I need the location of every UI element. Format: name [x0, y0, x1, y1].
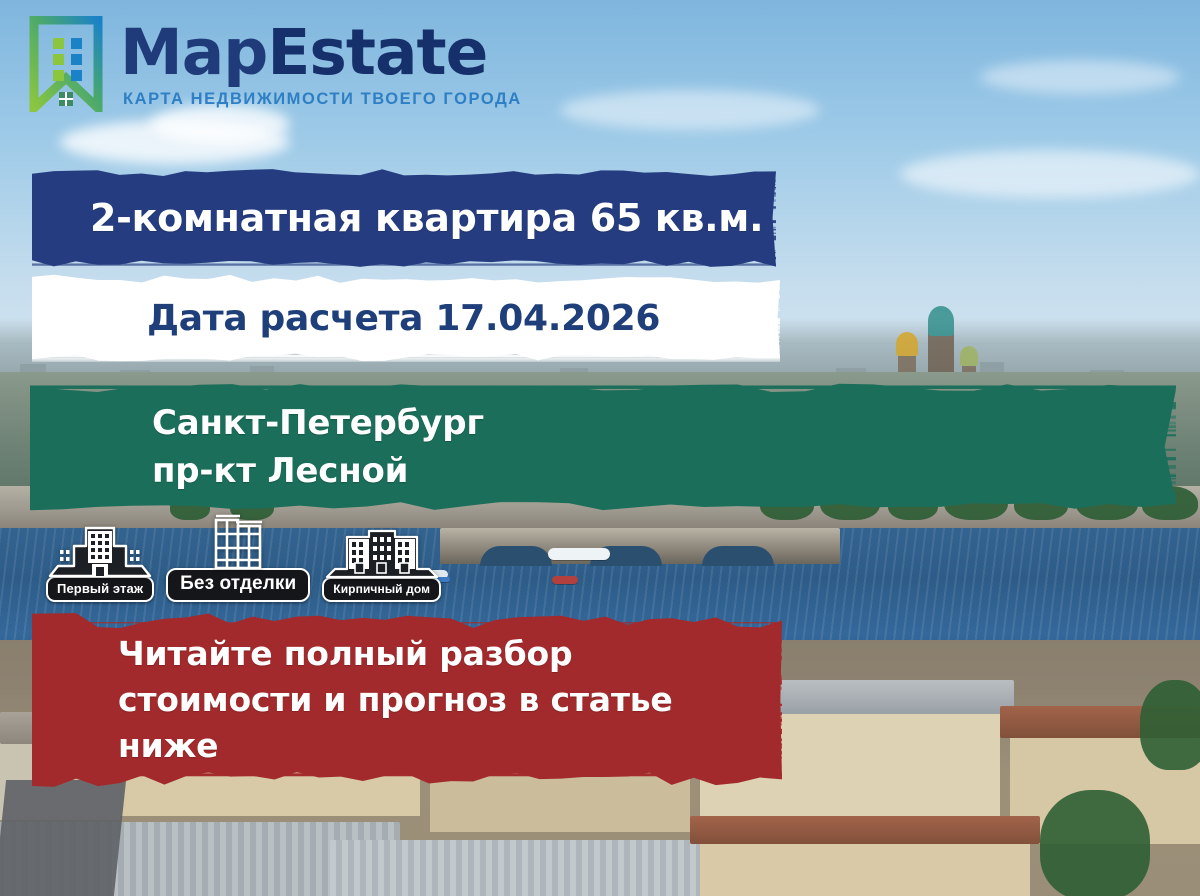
cloud: [900, 150, 1200, 198]
church-dome-gold: [896, 332, 918, 356]
promo-card: MapEstate КАРТА НЕДВИЖИМОСТИ ТВОЕГО ГОРО…: [0, 0, 1200, 896]
logo-word-map: Map: [120, 16, 267, 89]
church-dome-green: [960, 346, 978, 366]
bridge: [440, 528, 840, 564]
cta-line-1: Читайте полный разбор: [118, 634, 673, 674]
banner-location: Санкт-Петербург пр-кт Лесной: [30, 380, 1176, 514]
badge-label: Без отделки: [166, 568, 310, 602]
banner-date-text: Дата расчета 17.04.2026: [32, 298, 660, 339]
logo-wordmark: MapEstate: [120, 21, 522, 84]
logo-word-estate: Estate: [267, 16, 487, 89]
location-city: Санкт-Петербург: [152, 404, 484, 442]
cta-line-2: стоимости и прогноз в статье: [118, 680, 673, 720]
badge-first-floor[interactable]: Первый этаж: [46, 516, 154, 602]
church-dome: [928, 306, 954, 336]
banner-cta[interactable]: Читайте полный разбор стоимости и прогно…: [32, 608, 782, 792]
banner-cta-text: Читайте полный разбор стоимости и прогно…: [32, 634, 673, 767]
feature-badges: Первый этаж Без отделки: [46, 512, 441, 602]
brand-logo[interactable]: MapEstate КАРТА НЕДВИЖИМОСТИ ТВОЕГО ГОРО…: [26, 16, 522, 112]
map-bookmark-building-logo-icon: [26, 16, 106, 112]
building-frame-outline-icon: [190, 512, 286, 572]
location-street: пр-кт Лесной: [152, 452, 484, 490]
logo-tagline: КАРТА НЕДВИЖИМОСТИ ТВОЕГО ГОРОДА: [123, 91, 522, 108]
banner-date: Дата расчета 17.04.2026: [32, 272, 780, 364]
road: [0, 780, 126, 896]
cta-line-3: ниже: [118, 726, 673, 766]
cloud: [560, 90, 820, 130]
boat: [548, 548, 610, 560]
badge-brick-house[interactable]: Кирпичный дом: [322, 517, 441, 602]
banner-title-text: 2-комнатная квартира 65 кв.м.: [32, 196, 763, 240]
banner-location-text: Санкт-Петербург пр-кт Лесной: [30, 404, 484, 490]
cloud: [980, 60, 1180, 94]
apartment-building-icon: [48, 516, 152, 580]
brick-house-row-icon: [325, 517, 439, 581]
boat: [552, 576, 578, 584]
badge-no-finishing[interactable]: Без отделки: [166, 512, 310, 602]
banner-title: 2-комнатная квартира 65 кв.м.: [32, 166, 776, 270]
